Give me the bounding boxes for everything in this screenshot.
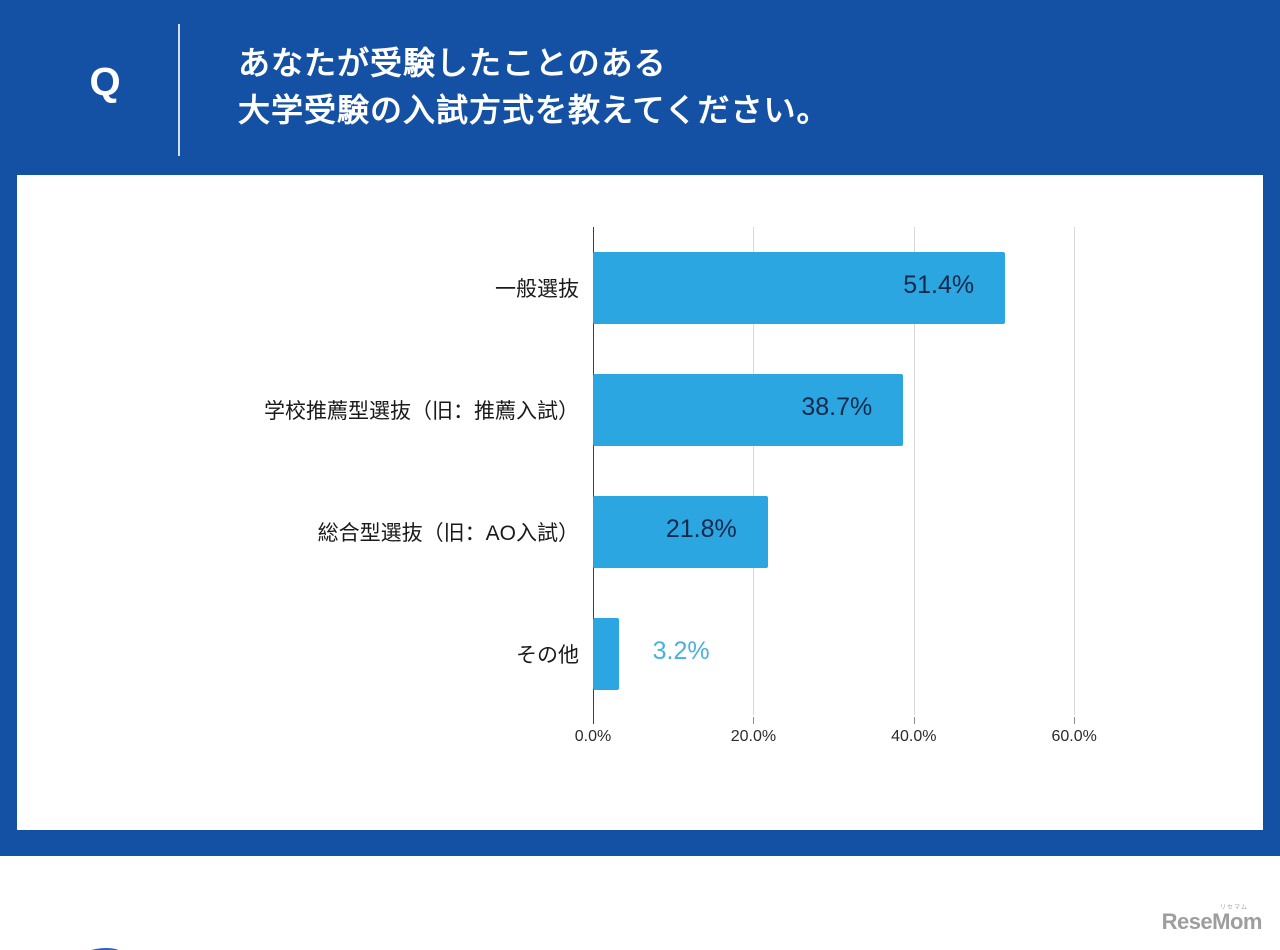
watermark: リセマム ReseMom bbox=[1162, 902, 1262, 933]
bar-value-label: 51.4% bbox=[903, 271, 974, 300]
question-marker: Q bbox=[75, 62, 135, 102]
category-label: 学校推薦型選抜（旧：推薦入試） bbox=[19, 395, 579, 425]
category-label: その他 bbox=[19, 639, 579, 669]
x-tick-0 bbox=[593, 717, 594, 724]
bar-value-label: 38.7% bbox=[801, 393, 872, 422]
x-tick-40 bbox=[914, 717, 915, 724]
gridline-60 bbox=[1074, 227, 1075, 715]
slide-root: Q あなたが受験したことのある 大学受験の入試方式を教えてください。 0.0%2… bbox=[0, 0, 1280, 950]
bar-value-label: 3.2% bbox=[653, 637, 710, 666]
header-divider bbox=[178, 24, 180, 156]
bar-chart: 0.0%20.0%40.0%60.0%一般選抜51.4%学校推薦型選抜（旧：推薦… bbox=[17, 175, 1263, 775]
x-tick-label: 40.0% bbox=[869, 728, 959, 746]
x-tick-label: 20.0% bbox=[708, 728, 798, 746]
brand-logo: じゅけラボ予備校 bbox=[55, 941, 355, 950]
logo-book-icon bbox=[55, 941, 129, 950]
x-tick-label: 0.0% bbox=[548, 728, 638, 746]
bar-value-label: 21.8% bbox=[666, 515, 737, 544]
category-label: 一般選抜 bbox=[19, 273, 579, 303]
x-tick-60 bbox=[1074, 717, 1075, 724]
content-card: 0.0%20.0%40.0%60.0%一般選抜51.4%学校推薦型選抜（旧：推薦… bbox=[17, 175, 1263, 830]
category-label: 総合型選抜（旧：AO入試） bbox=[19, 517, 579, 547]
x-tick-label: 60.0% bbox=[1029, 728, 1119, 746]
x-tick-20 bbox=[753, 717, 754, 724]
question-title: あなたが受験したことのある 大学受験の入試方式を教えてください。 bbox=[238, 40, 829, 134]
watermark-name: ReseMom bbox=[1162, 911, 1262, 933]
bar bbox=[593, 618, 619, 690]
